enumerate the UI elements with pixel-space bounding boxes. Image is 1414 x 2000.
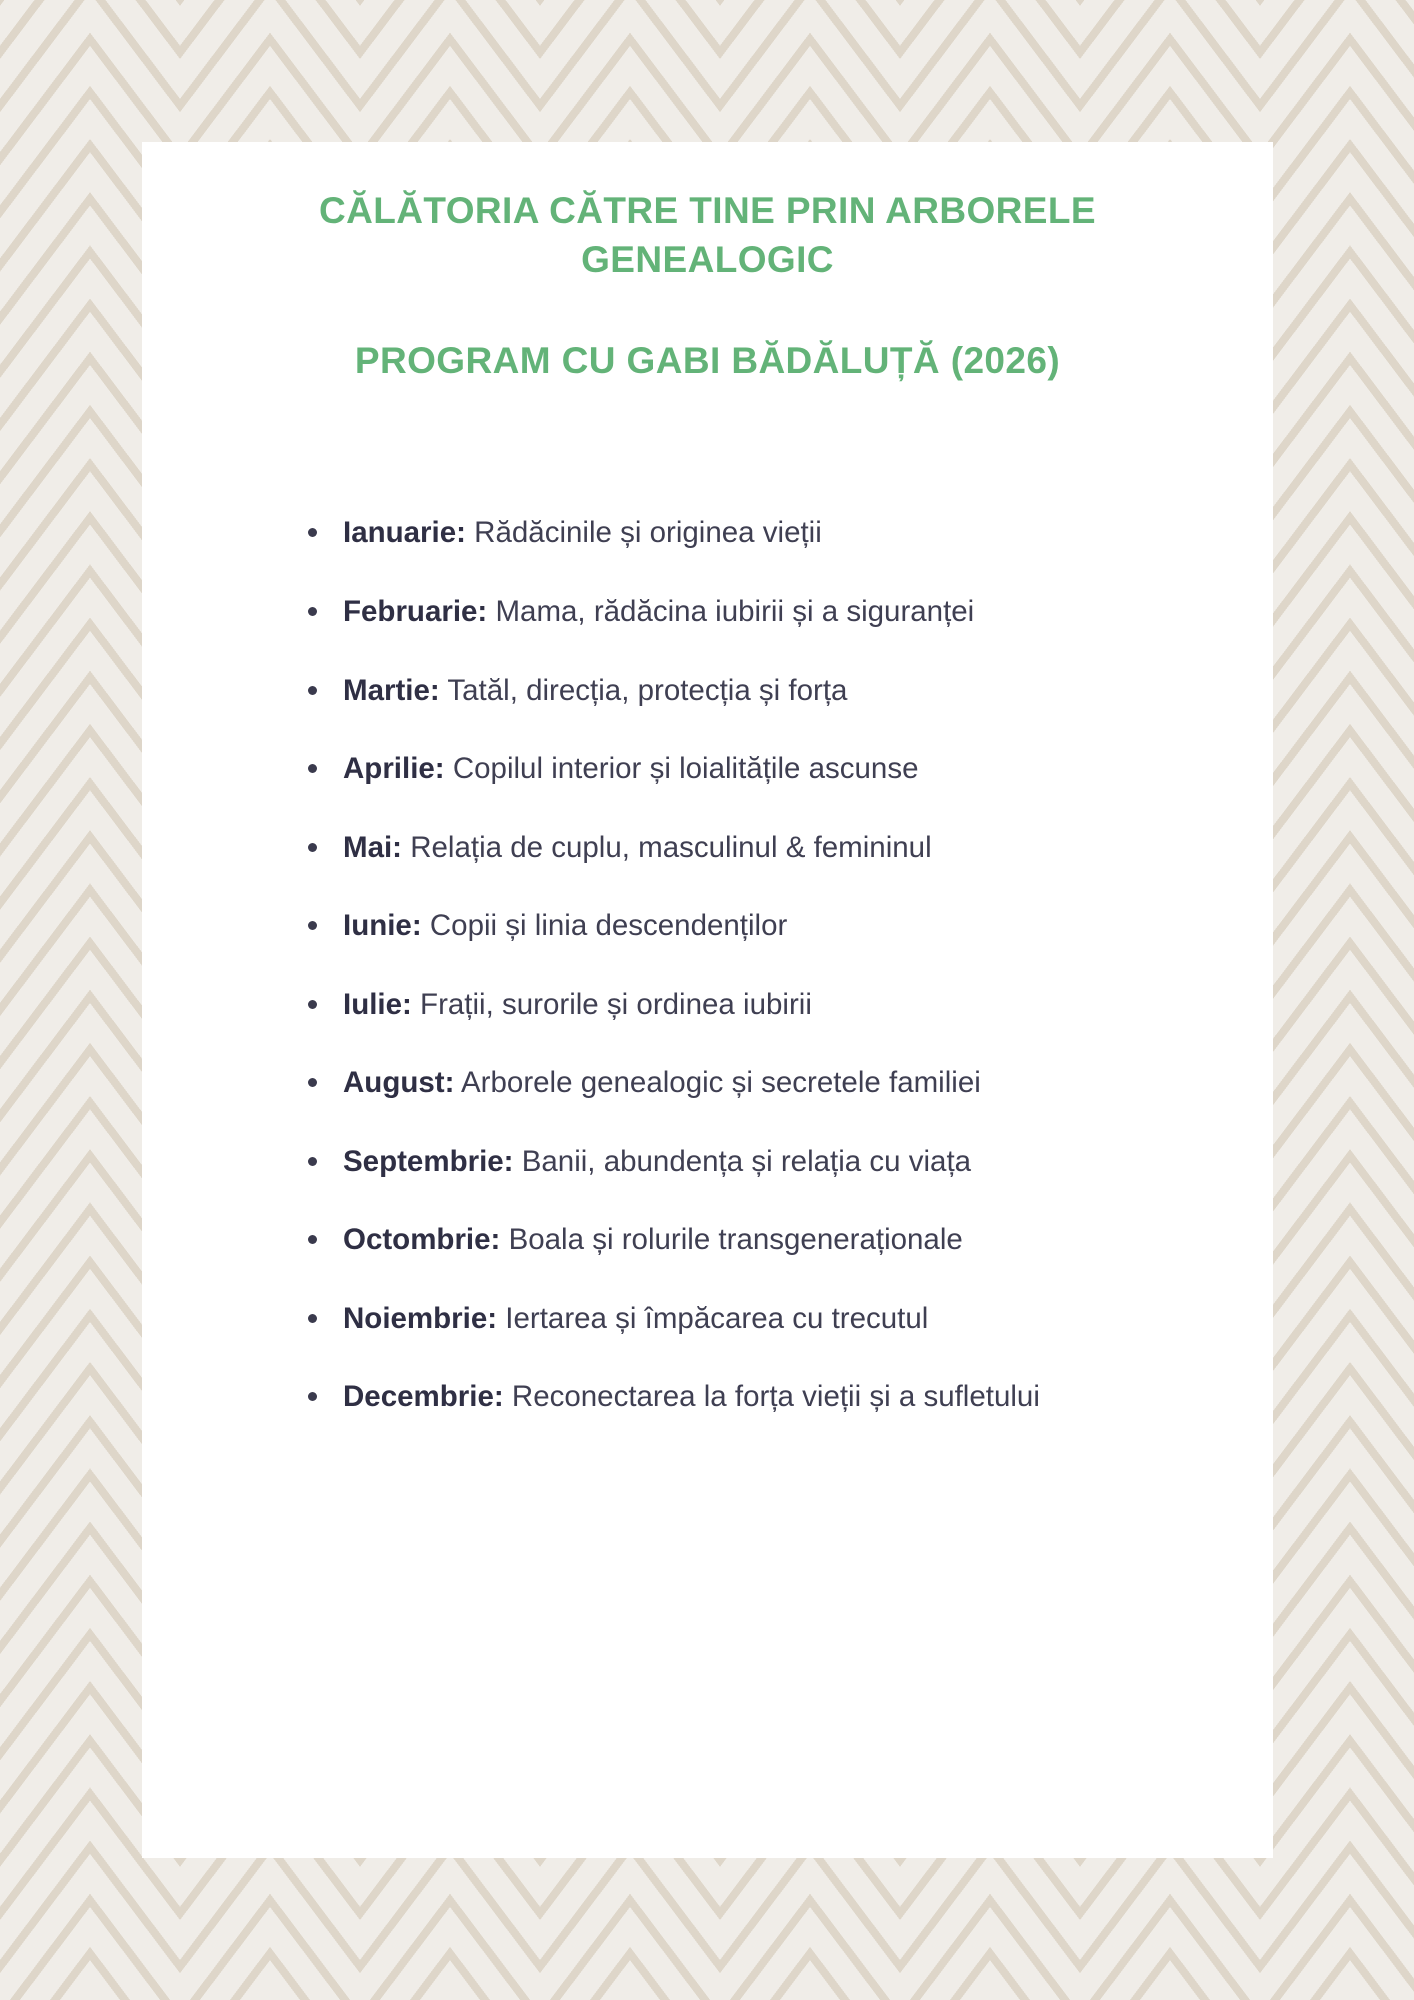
list-item: Ianuarie: Rădăcinile și originea vieții xyxy=(308,513,1118,553)
list-item: Octombrie: Boala și rolurile transgenera… xyxy=(308,1220,1118,1260)
bullet-icon xyxy=(308,528,317,537)
list-item: Iunie: Copii și linia descendenților xyxy=(308,906,1118,946)
month-label: August: xyxy=(343,1066,454,1099)
month-description: Boala și rolurile transgeneraționale xyxy=(509,1223,963,1256)
page-title: CĂLĂTORIA CĂTRE TINE PRIN ARBORELE GENEA… xyxy=(220,187,1195,285)
bullet-icon xyxy=(308,1235,317,1244)
page-subtitle: PROGRAM CU GABI BĂDĂLUȚĂ (2026) xyxy=(220,337,1195,386)
bullet-icon xyxy=(308,843,317,852)
chevron-stripe-column xyxy=(0,0,90,2000)
list-item: Septembrie: Banii, abundența și relația … xyxy=(308,1142,1118,1182)
month-description: Rădăcinile și originea vieții xyxy=(474,516,822,549)
month-description: Arborele genealogic și secretele familie… xyxy=(461,1066,981,1099)
month-program-list: Ianuarie: Rădăcinile și originea viețiiF… xyxy=(220,513,1195,1416)
card-inner: CĂLĂTORIA CĂTRE TINE PRIN ARBORELE GENEA… xyxy=(142,142,1273,1417)
month-description: Tatăl, direcția, protecția și forța xyxy=(447,674,847,707)
list-item: Mai: Relația de cuplu, masculinul & femi… xyxy=(308,828,1118,868)
month-label: Mai: xyxy=(343,831,402,864)
month-label: Decembrie: xyxy=(343,1380,504,1413)
chevron-stripe-column xyxy=(1350,0,1414,2000)
month-description: Copilul interior și loialitățile ascunse xyxy=(453,752,919,785)
month-description: Copii și linia descendenților xyxy=(430,909,787,942)
content-card: CĂLĂTORIA CĂTRE TINE PRIN ARBORELE GENEA… xyxy=(142,142,1273,1858)
bullet-icon xyxy=(308,686,317,695)
month-label: Noiembrie: xyxy=(343,1302,497,1335)
month-label: Martie: xyxy=(343,674,440,707)
month-description: Mama, rădăcina iubirii și a siguranței xyxy=(495,595,974,628)
bullet-icon xyxy=(308,764,317,773)
month-description: Iertarea și împăcarea cu trecutul xyxy=(505,1302,928,1335)
month-label: Iulie: xyxy=(343,988,412,1021)
month-description: Frații, surorile și ordinea iubirii xyxy=(420,988,812,1021)
month-label: Septembrie: xyxy=(343,1145,514,1178)
bullet-icon xyxy=(308,1392,317,1401)
month-label: Iunie: xyxy=(343,909,422,942)
month-label: Ianuarie: xyxy=(343,516,466,549)
bullet-icon xyxy=(308,1000,317,1009)
list-item: Februarie: Mama, rădăcina iubirii și a s… xyxy=(308,592,1118,632)
bullet-icon xyxy=(308,1314,317,1323)
title-block: CĂLĂTORIA CĂTRE TINE PRIN ARBORELE GENEA… xyxy=(220,187,1195,385)
month-description: Relația de cuplu, masculinul & femininul xyxy=(410,831,931,864)
month-description: Reconectarea la forța vieții și a suflet… xyxy=(512,1380,1040,1413)
month-label: Februarie: xyxy=(343,595,487,628)
list-item: Aprilie: Copilul interior și loialitățil… xyxy=(308,749,1118,789)
list-item: Decembrie: Reconectarea la forța vieții … xyxy=(308,1377,1118,1417)
bullet-icon xyxy=(308,607,317,616)
bullet-icon xyxy=(308,921,317,930)
chevron-stripe-column xyxy=(1260,0,1350,2000)
bullet-icon xyxy=(308,1078,317,1087)
month-label: Aprilie: xyxy=(343,752,445,785)
month-label: Octombrie: xyxy=(343,1223,500,1256)
list-item: Noiembrie: Iertarea și împăcarea cu trec… xyxy=(308,1299,1118,1339)
list-item: August: Arborele genealogic și secretele… xyxy=(308,1063,1118,1103)
month-description: Banii, abundența și relația cu viața xyxy=(522,1145,971,1178)
bullet-icon xyxy=(308,1157,317,1166)
list-item: Martie: Tatăl, direcția, protecția și fo… xyxy=(308,671,1118,711)
list-item: Iulie: Frații, surorile și ordinea iubir… xyxy=(308,985,1118,1025)
